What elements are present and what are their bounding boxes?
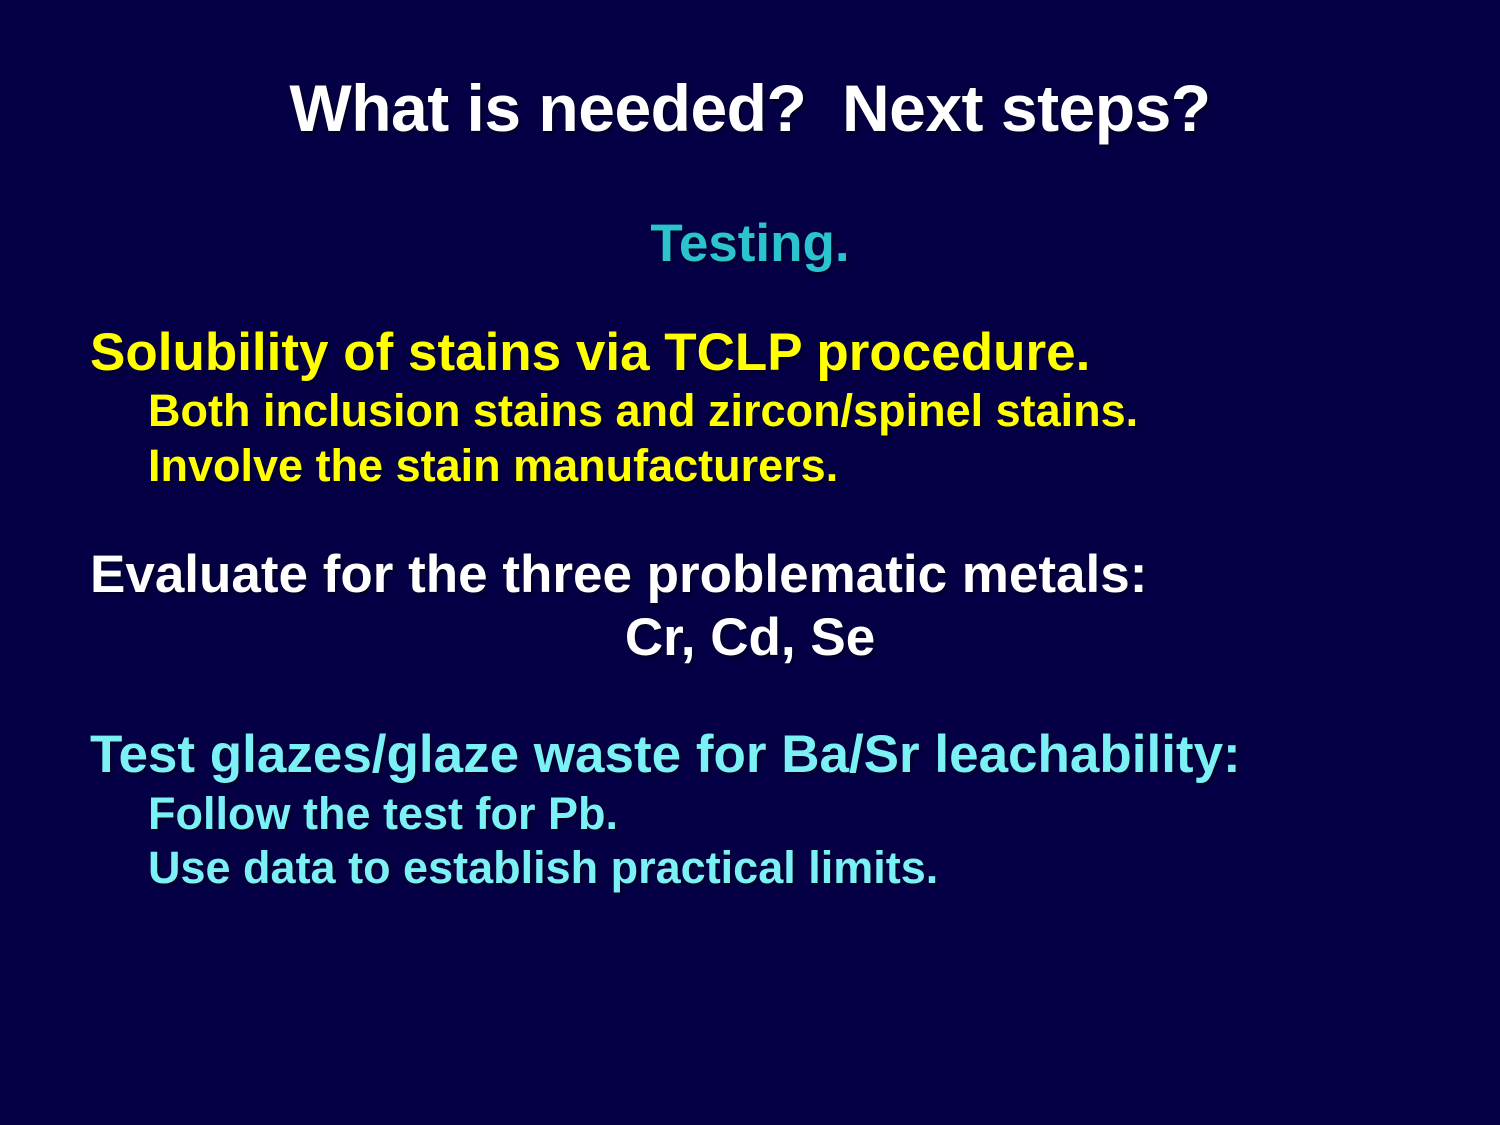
slide-body: Testing. Solubility of stains via TCLP p… xyxy=(0,212,1500,896)
page-title: What is needed? Next steps? xyxy=(0,74,1500,143)
solubility-heading: Solubility of stains via TCLP procedure. xyxy=(0,322,1500,385)
presentation-slide: What is needed? Next steps? Testing. Sol… xyxy=(0,0,1500,1125)
evaluate-heading: Evaluate for the three problematic metal… xyxy=(0,544,1500,607)
evaluate-block: Evaluate for the three problematic metal… xyxy=(0,544,1500,670)
list-item: Use data to establish practical limits. xyxy=(0,841,1500,896)
list-item: Involve the stain manufacturers. xyxy=(0,439,1500,494)
evaluate-metals: Cr, Cd, Se xyxy=(0,606,1500,670)
testing-block: Testing. xyxy=(0,212,1500,276)
leachability-heading: Test glazes/glaze waste for Ba/Sr leacha… xyxy=(0,724,1500,787)
list-item: Follow the test for Pb. xyxy=(0,787,1500,842)
solubility-block: Solubility of stains via TCLP procedure.… xyxy=(0,322,1500,494)
leachability-block: Test glazes/glaze waste for Ba/Sr leacha… xyxy=(0,724,1500,896)
subtitle-testing: Testing. xyxy=(0,212,1500,276)
list-item: Both inclusion stains and zircon/spinel … xyxy=(0,384,1500,439)
